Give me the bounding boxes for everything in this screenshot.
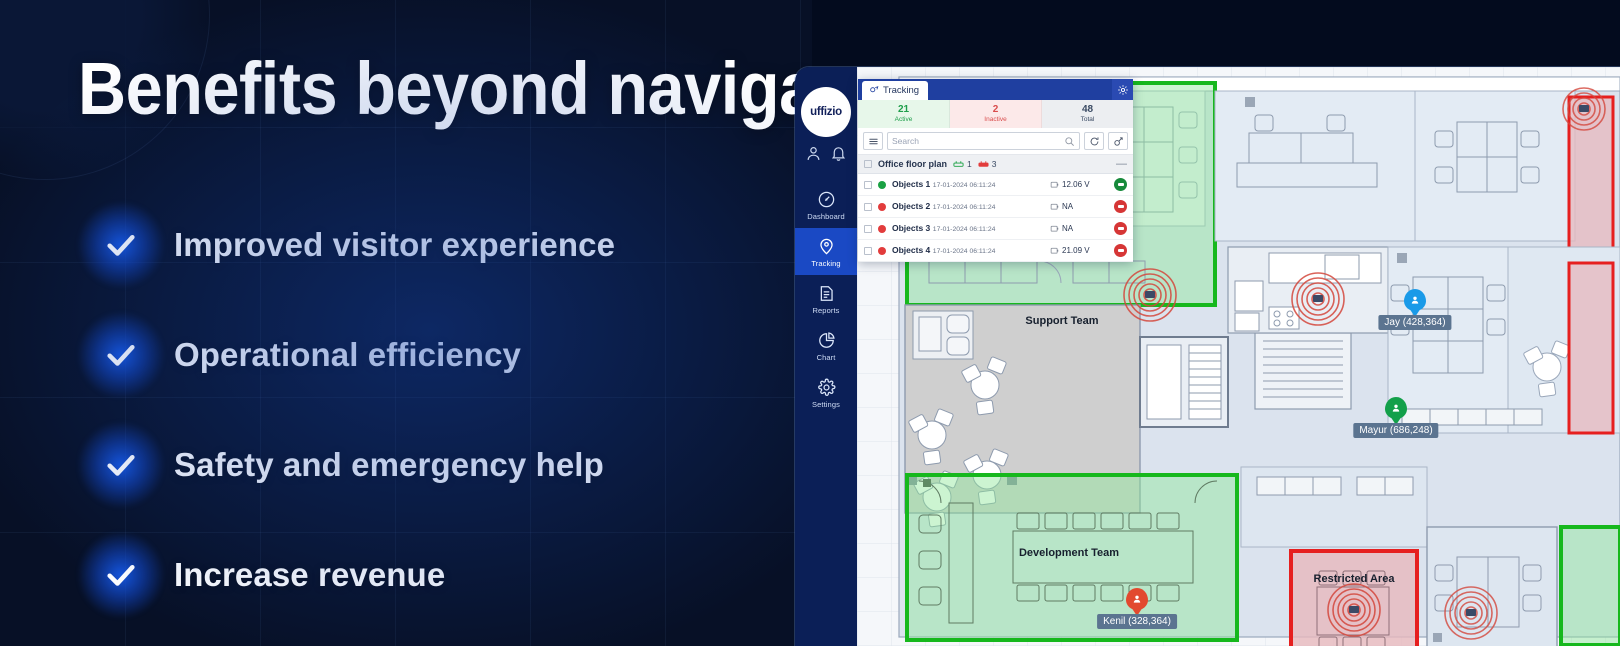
row-timestamp: 17-01-2024 06:11:24	[933, 204, 996, 211]
document-icon	[817, 284, 836, 303]
person-marker-mayur[interactable]: Mayur (686,248)	[1385, 397, 1407, 419]
list-item: Increase revenue	[78, 520, 778, 630]
sidebar-item-label: Reports	[795, 306, 857, 315]
check-icon	[78, 202, 164, 288]
status-dot	[878, 225, 886, 233]
battery-icon	[1050, 202, 1059, 211]
group-active-count-value: 1	[967, 159, 972, 169]
row-state-badge	[1114, 178, 1127, 191]
red-tracker-icon	[978, 160, 989, 168]
hamburger-icon[interactable]	[863, 132, 883, 150]
row-voltage-value: NA	[1062, 224, 1073, 233]
person-pin-icon	[1404, 289, 1426, 311]
stat-active-label: Active	[895, 116, 913, 123]
row-voltage: 21.09 V	[1050, 246, 1108, 255]
group-inactive-count: 3	[978, 159, 997, 169]
table-row[interactable]: Objects 3 17-01-2024 06:11:24 NA	[858, 218, 1133, 240]
list-item-label: Increase revenue	[174, 556, 445, 594]
sidebar-item-label: Chart	[795, 353, 857, 362]
list-item-label: Operational efficiency	[174, 336, 521, 374]
location-pin-icon	[817, 237, 836, 256]
person-marker-jay[interactable]: Jay (428,364)	[1404, 289, 1426, 311]
magnifier-icon[interactable]	[1064, 136, 1075, 147]
zone-label-support-team: Support Team	[1025, 315, 1098, 327]
stat-active[interactable]: 21 Active	[858, 100, 950, 128]
row-timestamp: 17-01-2024 06:11:24	[933, 182, 996, 189]
person-marker-kenil[interactable]: Kenil (328,364)	[1126, 588, 1148, 610]
stat-active-value: 21	[898, 105, 909, 116]
list-item-label: Improved visitor experience	[174, 226, 615, 264]
list-item: Safety and emergency help	[78, 410, 778, 520]
row-state-badge	[1114, 222, 1127, 235]
person-label-jay: Jay (428,364)	[1378, 315, 1451, 330]
row-timestamp: 17-01-2024 06:11:24	[933, 226, 996, 233]
person-pin-icon	[1126, 588, 1148, 610]
row-checkbox[interactable]	[864, 203, 872, 211]
sidebar-item-settings[interactable]: Settings	[795, 369, 857, 416]
row-name: Objects 1	[892, 179, 930, 189]
status-dot	[878, 203, 886, 211]
person-pin-icon	[1385, 397, 1407, 419]
brand-logo: uffizio	[801, 87, 851, 137]
row-checkbox[interactable]	[864, 181, 872, 189]
stat-inactive[interactable]: 2 Inactive	[950, 100, 1042, 128]
search-input[interactable]	[892, 136, 1064, 146]
table-row[interactable]: Objects 2 17-01-2024 06:11:24 NA	[858, 196, 1133, 218]
table-row[interactable]: Objects 4 17-01-2024 06:11:24 21.09 V	[858, 240, 1133, 262]
search-field[interactable]	[887, 132, 1080, 150]
row-voltage: 12.06 V	[1050, 180, 1108, 189]
sidebar-item-label: Settings	[795, 400, 857, 409]
brand-logo-text: uffizio	[810, 106, 842, 118]
gear-icon	[817, 378, 836, 397]
check-icon	[78, 532, 164, 618]
page-title: Benefits beyond navigation	[78, 52, 708, 126]
row-voltage-value: 21.09 V	[1062, 246, 1090, 255]
person-label-kenil: Kenil (328,364)	[1097, 614, 1177, 629]
sidebar-item-chart[interactable]: Chart	[795, 322, 857, 369]
status-dot	[878, 247, 886, 255]
tab-tracking-label: Tracking	[883, 85, 919, 96]
group-header-office-floor-plan[interactable]: Office floor plan 1 3 —	[858, 155, 1133, 174]
user-icon[interactable]	[805, 145, 822, 162]
stat-total[interactable]: 48 Total	[1042, 100, 1133, 128]
group-inactive-count-value: 3	[992, 159, 997, 169]
person-label-mayur: Mayur (686,248)	[1353, 423, 1438, 438]
row-voltage-value: 12.06 V	[1062, 180, 1090, 189]
tracking-panel-titlebar: Tracking	[858, 79, 1133, 100]
bell-icon[interactable]	[830, 145, 847, 162]
app-sidebar: uffizio Dashboard Tracking	[795, 67, 857, 646]
tracker-filter-icon[interactable]	[1108, 132, 1128, 150]
row-voltage: NA	[1050, 224, 1108, 233]
sidebar-top-icons	[795, 145, 857, 162]
tracking-toolbar	[858, 128, 1133, 155]
zone-label-restricted-area: Restricted Area	[1314, 573, 1395, 585]
stat-inactive-label: Inactive	[984, 116, 1006, 123]
marketing-panel: Benefits beyond navigation Improved visi…	[0, 0, 812, 646]
row-voltage-value: NA	[1062, 202, 1073, 211]
tracking-panel: Tracking 21 Active 2 Inactive 48 Total	[858, 79, 1133, 262]
stat-total-label: Total	[1081, 116, 1095, 123]
refresh-icon[interactable]	[1084, 132, 1104, 150]
sidebar-item-reports[interactable]: Reports	[795, 275, 857, 322]
sidebar-nav: Dashboard Tracking Reports Chart	[795, 181, 857, 416]
tab-tracking[interactable]: Tracking	[862, 81, 928, 100]
tracking-pin-icon	[869, 86, 879, 96]
battery-icon	[1050, 180, 1059, 189]
tracking-application-window: uffizio Dashboard Tracking	[795, 67, 1620, 646]
stat-inactive-value: 2	[993, 105, 999, 116]
stat-total-value: 48	[1082, 105, 1093, 116]
row-name: Objects 4	[892, 245, 930, 255]
list-item: Improved visitor experience	[78, 190, 778, 300]
row-checkbox[interactable]	[864, 247, 872, 255]
battery-icon	[1050, 246, 1059, 255]
speedometer-icon	[817, 190, 836, 209]
sidebar-item-dashboard[interactable]: Dashboard	[795, 181, 857, 228]
green-tracker-icon	[953, 160, 964, 168]
list-item: Operational efficiency	[78, 300, 778, 410]
row-voltage: NA	[1050, 202, 1108, 211]
sidebar-item-tracking[interactable]: Tracking	[795, 228, 857, 275]
check-icon	[78, 422, 164, 508]
table-row[interactable]: Objects 1 17-01-2024 06:11:24 12.06 V	[858, 174, 1133, 196]
row-name: Objects 3	[892, 223, 930, 233]
group-active-count: 1	[953, 159, 972, 169]
pie-chart-icon	[817, 331, 836, 350]
group-name: Office floor plan	[878, 159, 947, 169]
row-name: Objects 2	[892, 201, 930, 211]
sidebar-item-label: Tracking	[795, 259, 857, 268]
status-dot	[878, 181, 886, 189]
gear-icon[interactable]	[1112, 79, 1133, 100]
tracking-stats: 21 Active 2 Inactive 48 Total	[858, 100, 1133, 128]
sidebar-item-label: Dashboard	[795, 212, 857, 221]
check-icon	[78, 312, 164, 398]
zone-label-development-team: Development Team	[1019, 547, 1119, 559]
benefits-list: Improved visitor experience Operational …	[78, 190, 778, 630]
list-item-label: Safety and emergency help	[174, 446, 604, 484]
minus-icon[interactable]: —	[1116, 159, 1127, 170]
row-state-badge	[1114, 244, 1127, 257]
row-state-badge	[1114, 200, 1127, 213]
row-timestamp: 17-01-2024 06:11:24	[933, 248, 996, 255]
row-checkbox[interactable]	[864, 225, 872, 233]
group-checkbox[interactable]	[864, 160, 872, 168]
battery-icon	[1050, 224, 1059, 233]
